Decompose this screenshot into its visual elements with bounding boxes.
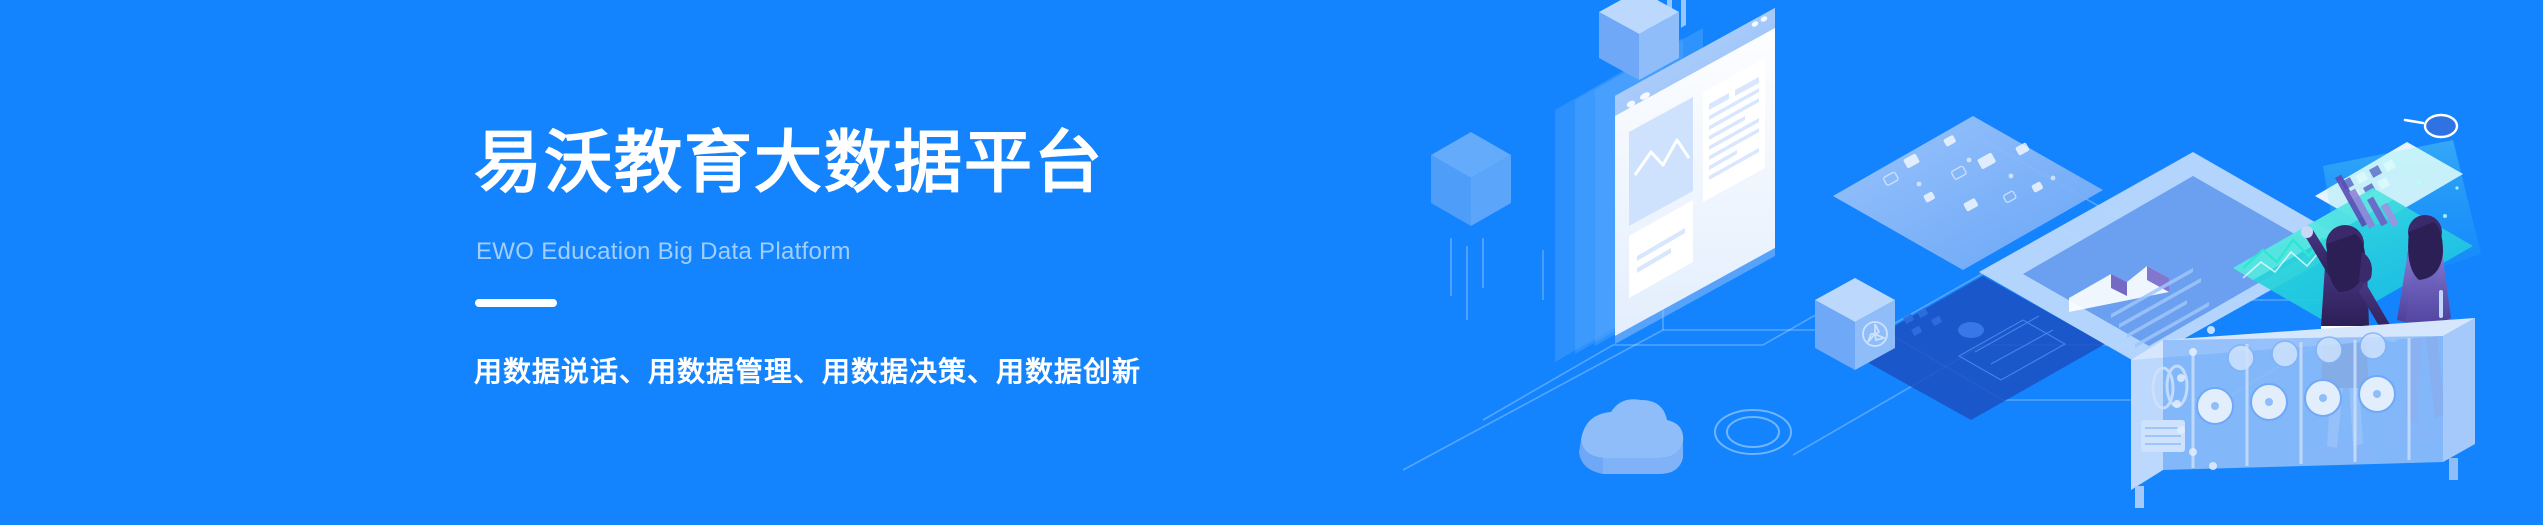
connector-lines [1403,140,2373,470]
hero-banner: 易沃教育大数据平台 EWO Education Big Data Platfor… [0,0,2543,525]
server-cube-upper [1815,278,1895,370]
page-subtitle: EWO Education Big Data Platform [476,238,851,267]
node-network-panel [1833,116,2103,270]
dotted-arc [2173,326,2217,470]
person-right [2395,215,2451,439]
server-rack [2131,292,2475,508]
person-left [2301,225,2399,462]
page-tagline: 用数据说话、用数据管理、用数据决策、用数据创新 [474,355,1141,389]
circuit-board-panel [1849,276,2105,420]
ghost-window-layers [1555,28,1703,362]
title-divider [475,299,557,307]
cloud-icon [1579,399,1683,474]
hero-text-block: 易沃教育大数据平台 EWO Education Big Data Platfor… [474,0,1374,525]
page-title: 易沃教育大数据平台 [474,128,1104,199]
hologram-screen [2233,140,2481,326]
server-cube-lower [1599,0,1679,80]
ring-detail [1715,410,1791,454]
floating-cube [1431,132,1511,320]
magnifier-icon [2405,115,2457,137]
hero-illustration [1363,0,2543,525]
analytics-tablet [1979,152,2353,364]
chart-widget [2315,142,2463,228]
dashboard-window [1615,0,1775,344]
